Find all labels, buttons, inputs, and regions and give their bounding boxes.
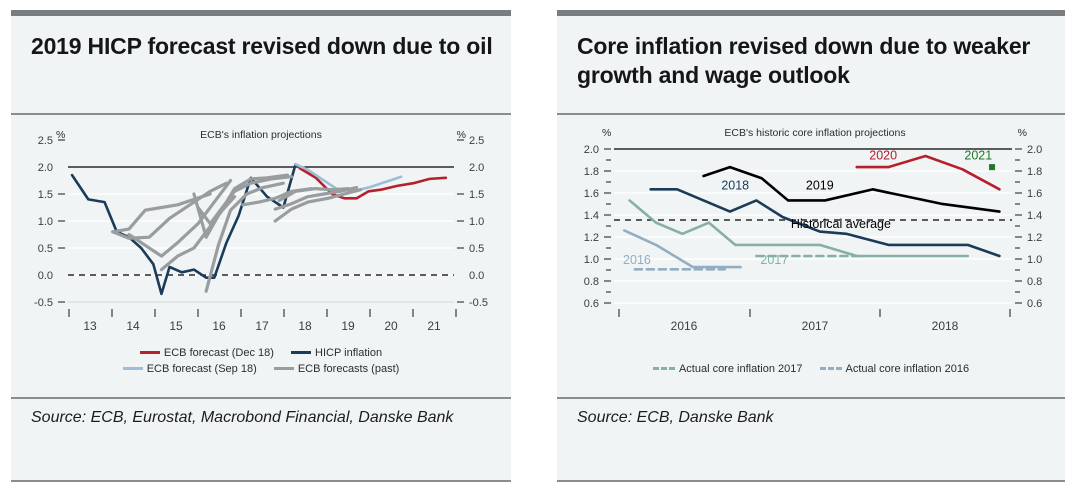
svg-text:1.8: 1.8 [584, 166, 599, 178]
chart-left-svg: % ECB's inflation projections % [11, 116, 511, 346]
y-axis-right: 2.0 1.8 1.6 1.4 1.2 1.0 0.8 0.6 [1015, 144, 1042, 310]
legend-label: ECB forecast (Sep 18) [147, 362, 257, 377]
panel-right-title: Core inflation revised down due to weake… [577, 32, 1049, 90]
svg-text:20: 20 [384, 319, 398, 333]
x-axis-labels: 13 14 15 16 17 18 19 20 21 [83, 319, 441, 333]
chart-annotation: 2016 [623, 253, 651, 267]
svg-text:0.8: 0.8 [1027, 276, 1042, 288]
title-divider [557, 113, 1065, 115]
legend-label: Actual core inflation 2017 [679, 362, 803, 377]
svg-text:19: 19 [341, 319, 355, 333]
chart-right-header-title: ECB's historic core inflation projection… [724, 127, 905, 139]
chart-left-legend: ECB forecast (Dec 18) HICP inflation ECB… [11, 346, 511, 377]
panel-right: Core inflation revised down due to weake… [557, 10, 1065, 482]
svg-text:2016: 2016 [671, 319, 698, 333]
source-divider-bottom [557, 480, 1065, 482]
panel-top-bar [11, 10, 511, 16]
svg-text:0.5: 0.5 [38, 243, 53, 255]
svg-text:-0.5: -0.5 [34, 297, 53, 309]
chart-annotation: 2019 [806, 178, 834, 192]
svg-text:-0.5: -0.5 [469, 297, 488, 309]
x-axis-ticks [619, 309, 1010, 317]
chart-left: % ECB's inflation projections % [11, 116, 511, 346]
chart-annotation: Historical average [791, 217, 891, 231]
svg-text:2.0: 2.0 [469, 162, 484, 174]
data-marker [989, 164, 995, 170]
svg-text:1.0: 1.0 [584, 254, 599, 266]
legend-label: ECB forecasts (past) [298, 362, 399, 377]
svg-text:1.2: 1.2 [1027, 232, 1042, 244]
panel-left: 2019 HICP forecast revised down due to o… [11, 10, 511, 482]
chart-right-legend: Actual core inflation 2017 Actual core i… [557, 362, 1065, 378]
chart-left-header-title: ECB's inflation projections [200, 129, 322, 141]
svg-text:16: 16 [212, 319, 226, 333]
source-divider-top [557, 397, 1065, 399]
panel-top-bar [557, 10, 1065, 16]
figure-board: 2019 HICP forecast revised down due to o… [0, 0, 1076, 492]
source-divider-bottom [11, 480, 511, 482]
x-axis-ticks [69, 309, 456, 317]
svg-text:18: 18 [298, 319, 312, 333]
svg-text:1.4: 1.4 [1027, 210, 1042, 222]
legend-label: ECB forecast (Dec 18) [164, 346, 274, 361]
chart-right: % ECB's historic core inflation projecti… [557, 116, 1065, 346]
svg-text:1.0: 1.0 [1027, 254, 1042, 266]
panel-left-title: 2019 HICP forecast revised down due to o… [31, 32, 495, 61]
legend-swatch [274, 367, 294, 370]
svg-text:21: 21 [427, 319, 441, 333]
legend-item-actual-core-2017[interactable]: Actual core inflation 2017 [653, 362, 803, 377]
legend-label: HICP inflation [315, 346, 382, 361]
chart-annotation: 2021 [964, 148, 992, 162]
svg-text:1.8: 1.8 [1027, 166, 1042, 178]
legend-item-actual-core-2016[interactable]: Actual core inflation 2016 [820, 362, 970, 377]
panel-left-source: Source: ECB, Eurostat, Macrobond Financi… [31, 404, 497, 432]
source-divider-top [11, 397, 511, 399]
svg-text:0.0: 0.0 [469, 270, 484, 282]
y-axis-right: 2.5 2.0 1.5 1.0 0.5 0.0 -0.5 [457, 135, 488, 309]
legend-swatch [123, 367, 143, 370]
svg-text:0.5: 0.5 [469, 243, 484, 255]
svg-text:1.0: 1.0 [469, 216, 484, 228]
y-axis-left: 2.0 1.8 1.6 1.4 1.2 1.0 0.8 0.6 [584, 144, 611, 310]
svg-text:2.0: 2.0 [1027, 144, 1042, 156]
legend-swatch [820, 367, 842, 370]
legend-swatch [291, 351, 311, 354]
legend-row: ECB forecast (Sep 18) ECB forecasts (pas… [11, 362, 511, 378]
svg-text:14: 14 [126, 319, 140, 333]
legend-row: ECB forecast (Dec 18) HICP inflation [11, 346, 511, 362]
svg-text:1.0: 1.0 [38, 216, 53, 228]
svg-text:15: 15 [169, 319, 183, 333]
svg-text:2018: 2018 [932, 319, 959, 333]
svg-text:1.2: 1.2 [584, 232, 599, 244]
svg-text:1.5: 1.5 [469, 189, 484, 201]
left-axis-unit: % [56, 129, 65, 141]
svg-text:1.6: 1.6 [1027, 188, 1042, 200]
svg-text:2.5: 2.5 [469, 135, 484, 147]
legend-row: Actual core inflation 2017 Actual core i… [557, 362, 1065, 378]
svg-text:13: 13 [83, 319, 97, 333]
y-axis-left: 2.5 2.0 1.5 1.0 0.5 0.0 -0.5 [34, 135, 65, 309]
legend-item-ecb-forecasts-past[interactable]: ECB forecasts (past) [274, 362, 399, 377]
right-axis-unit: % [457, 129, 466, 141]
svg-text:2.0: 2.0 [38, 162, 53, 174]
legend-swatch [140, 351, 160, 354]
legend-swatch [653, 367, 675, 370]
svg-text:2.5: 2.5 [38, 135, 53, 147]
annotation-group-right: 201820192020202120162017Historical avera… [623, 148, 992, 266]
chart-annotation: 2018 [721, 178, 749, 192]
legend-item-ecb-forecast-sep18[interactable]: ECB forecast (Sep 18) [123, 362, 257, 377]
svg-text:1.4: 1.4 [584, 210, 599, 222]
legend-item-hicp-inflation[interactable]: HICP inflation [291, 346, 382, 361]
svg-text:1.5: 1.5 [38, 189, 53, 201]
chart-right-svg: % ECB's historic core inflation projecti… [557, 116, 1065, 346]
right-axis-unit: % [1018, 127, 1027, 139]
svg-text:2017: 2017 [802, 319, 829, 333]
svg-text:17: 17 [255, 319, 269, 333]
series-group-right [624, 156, 999, 269]
left-axis-unit: % [602, 127, 611, 139]
svg-text:0.0: 0.0 [38, 270, 53, 282]
x-axis-labels: 2016 2017 2018 [671, 319, 959, 333]
svg-text:0.6: 0.6 [584, 298, 599, 310]
svg-text:0.6: 0.6 [1027, 298, 1042, 310]
legend-label: Actual core inflation 2016 [846, 362, 970, 377]
chart-annotation: 2017 [760, 253, 788, 267]
svg-text:0.8: 0.8 [584, 276, 599, 288]
svg-text:1.6: 1.6 [584, 188, 599, 200]
legend-item-ecb-forecast-dec18[interactable]: ECB forecast (Dec 18) [140, 346, 274, 361]
svg-text:2.0: 2.0 [584, 144, 599, 156]
chart-annotation: 2020 [869, 148, 897, 162]
panel-right-source: Source: ECB, Danske Bank [577, 404, 1051, 432]
title-divider [11, 113, 511, 115]
